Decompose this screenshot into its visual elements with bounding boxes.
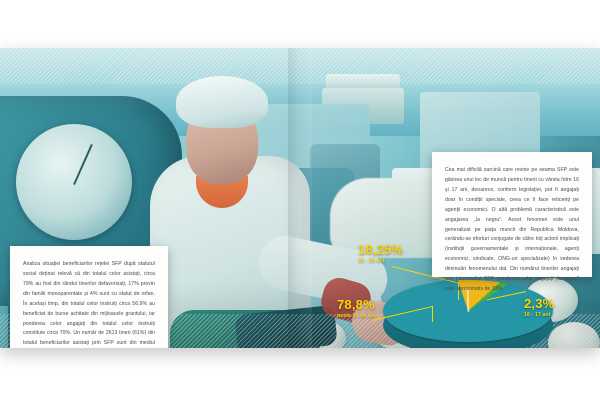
photo-cheese-round (548, 322, 600, 348)
right-page-body-text: Cea mai dificilă sarcină care revine pe … (445, 166, 579, 295)
photo-worker-hairnet (176, 76, 268, 128)
callout-percent: 18,25% (358, 243, 403, 256)
callout-sublabel: 18 - 25 ani (358, 258, 403, 264)
left-page-body-text: Analiza situației beneficiarilor rețelei… (23, 260, 155, 348)
photo-scale-dial (16, 124, 132, 240)
right-page-text-box: Cea mai dificilă sarcină care revine pe … (432, 152, 592, 277)
left-page-text-box: Analiza situației beneficiarilor rețelei… (10, 246, 168, 348)
callout-percent: 2,3% (524, 297, 554, 310)
chart-callout-18: 18,25% 18 - 25 ani (358, 243, 403, 264)
magazine-spread: 18,25% 18 - 25 ani 78,8% peste 25 de ani… (0, 48, 600, 348)
screenshot-canvas: 18,25% 18 - 25 ani 78,8% peste 25 de ani… (0, 0, 600, 400)
callout-leader-line-2b (432, 306, 433, 322)
callout-percent: 78,8% (337, 298, 376, 311)
chart-callout-78: 78,8% peste 25 de ani (337, 298, 376, 319)
callout-sublabel: peste 25 de ani (337, 313, 376, 319)
callout-sublabel: 16 - 17 ani (524, 312, 554, 318)
chart-callout-2: 2,3% 16 - 17 ani (524, 297, 554, 318)
